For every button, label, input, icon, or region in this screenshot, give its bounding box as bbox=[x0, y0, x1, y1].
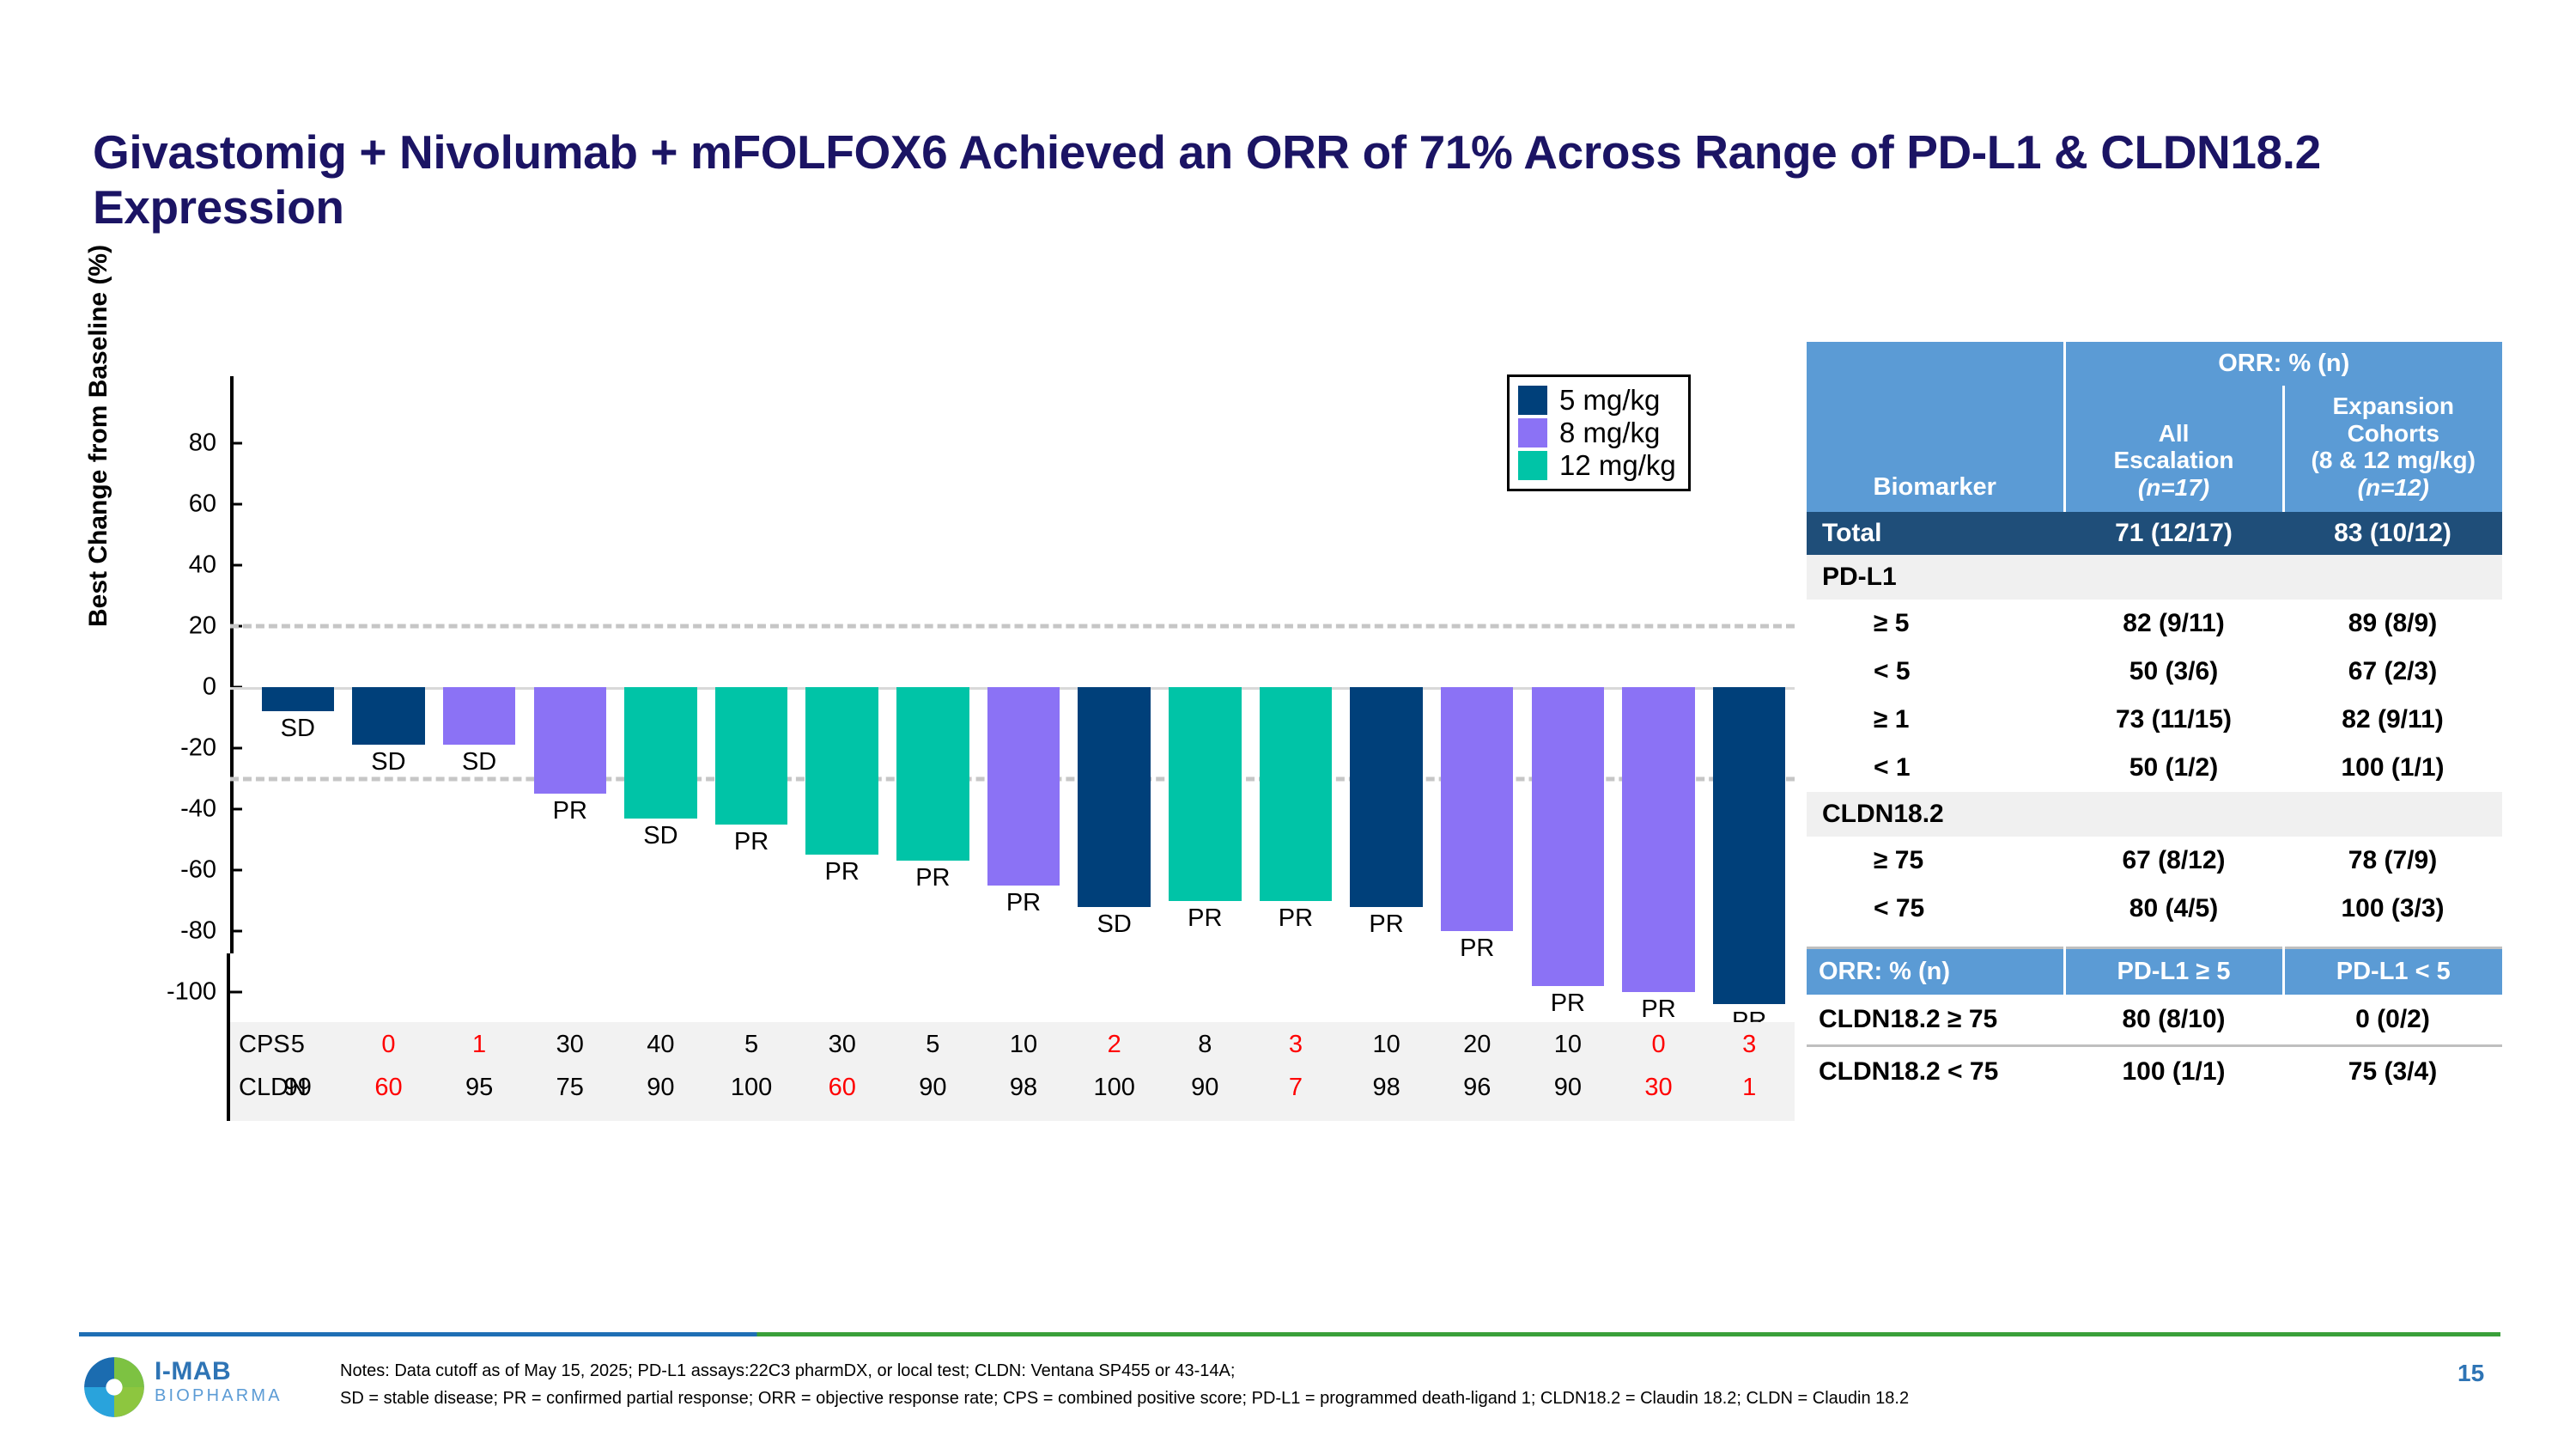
annotation-cell: 8 bbox=[1198, 1031, 1212, 1059]
annotation-cell: 1 bbox=[472, 1031, 486, 1059]
annotation-cell: 2 bbox=[1108, 1031, 1121, 1059]
y-tick-label: -100 bbox=[105, 978, 230, 1007]
annotation-cell: 30 bbox=[829, 1031, 856, 1059]
bar-rect bbox=[715, 687, 788, 825]
total-all-escalation: 71 (12/17) bbox=[2064, 512, 2283, 555]
bar-response-label: PR bbox=[1551, 989, 1585, 1018]
table-row-total: Total 71 (12/17) 83 (10/12) bbox=[1807, 512, 2502, 555]
annotation-cell: 60 bbox=[374, 1074, 402, 1102]
annotation-cell: 3 bbox=[1742, 1031, 1756, 1059]
cell-all-escalation: 73 (11/15) bbox=[2064, 696, 2283, 744]
logo-wordmark: I-MAB BIOPHARMA bbox=[155, 1359, 283, 1407]
waterfall-bar[interactable]: PR bbox=[1350, 344, 1423, 1125]
y-tick-label: -60 bbox=[105, 856, 230, 885]
group-label: CLDN18.2 bbox=[1807, 792, 2502, 837]
annotation-cell: 98 bbox=[1372, 1074, 1400, 1102]
y-tick-label: -20 bbox=[105, 734, 230, 763]
legend-swatch bbox=[1518, 418, 1547, 447]
annotation-cell: 1 bbox=[1742, 1074, 1756, 1102]
page-title: Givastomig + Nivolumab + mFOLFOX6 Achiev… bbox=[93, 125, 2454, 235]
annotation-cell: 10 bbox=[1372, 1031, 1400, 1059]
bar-response-label: PR bbox=[915, 864, 950, 892]
bar-rect bbox=[262, 687, 335, 711]
y-tick-mark bbox=[230, 442, 242, 445]
waterfall-bar[interactable]: SD bbox=[262, 344, 335, 1125]
legend-item[interactable]: 5 mg/kg bbox=[1518, 384, 1676, 417]
legend-item[interactable]: 8 mg/kg bbox=[1518, 417, 1676, 449]
waterfall-bar[interactable]: SD bbox=[352, 344, 425, 1125]
waterfall-bar[interactable]: PR bbox=[534, 344, 607, 1125]
annotation-cell: 10 bbox=[1554, 1031, 1582, 1059]
biomarker-table-body: PD-L1≥ 582 (9/11)89 (8/9)< 550 (3/6)67 (… bbox=[1807, 555, 2502, 933]
bar-rect bbox=[896, 687, 969, 861]
bar-rect bbox=[624, 687, 697, 819]
y-tick-label: 60 bbox=[105, 490, 230, 519]
bar-rect bbox=[1441, 687, 1514, 931]
bar-rect bbox=[1169, 687, 1242, 901]
header-orr-span: ORR: % (n) bbox=[2064, 342, 2502, 386]
cell-pdl1-ge5: 100 (1/1) bbox=[2064, 1045, 2283, 1097]
annotation-cell: 30 bbox=[1644, 1074, 1672, 1102]
footnotes: Notes: Data cutoff as of May 15, 2025; P… bbox=[340, 1357, 2341, 1413]
footer-divider bbox=[79, 1332, 2500, 1336]
waterfall-bar[interactable]: PR bbox=[1169, 344, 1242, 1125]
table-group-row: CLDN18.2 bbox=[1807, 792, 2502, 837]
row-label: CLDN18.2 < 75 bbox=[1807, 1045, 2064, 1097]
cell-expansion: 100 (3/3) bbox=[2283, 885, 2502, 933]
bar-response-label: SD bbox=[462, 748, 496, 776]
legend-swatch bbox=[1518, 386, 1547, 415]
annotation-cell: 5 bbox=[744, 1031, 758, 1059]
logo-name: I-MAB bbox=[155, 1359, 283, 1385]
cross-tab-table: ORR: % (n) PD-L1 ≥ 5 PD-L1 < 5 CLDN18.2 … bbox=[1807, 947, 2502, 1097]
header-expansion-l3: (8 & 12 mg/kg) bbox=[2288, 447, 2500, 474]
y-tick-label: -80 bbox=[105, 917, 230, 946]
annotation-cell: 30 bbox=[556, 1031, 584, 1059]
cell-expansion: 78 (7/9) bbox=[2283, 837, 2502, 885]
bar-response-label: PR bbox=[734, 828, 769, 856]
y-tick-mark bbox=[230, 747, 242, 750]
y-tick-label: -40 bbox=[105, 795, 230, 824]
cell-expansion: 89 (8/9) bbox=[2283, 600, 2502, 648]
row-label: CLDN18.2 ≥ 75 bbox=[1807, 995, 2064, 1046]
y-tick-label: 20 bbox=[105, 612, 230, 641]
table-row[interactable]: ≥ 7567 (8/12)78 (7/9) bbox=[1807, 837, 2502, 885]
cell-all-escalation: 50 (3/6) bbox=[2064, 648, 2283, 696]
bar-rect bbox=[805, 687, 878, 855]
waterfall-bar[interactable]: PR bbox=[1260, 344, 1333, 1125]
annotation-cell: 95 bbox=[465, 1074, 493, 1102]
table-row[interactable]: ≥ 582 (9/11)89 (8/9) bbox=[1807, 600, 2502, 648]
bar-response-label: PR bbox=[1369, 910, 1403, 939]
waterfall-chart: Best Change from Baseline (%) 806040200-… bbox=[86, 344, 1795, 1168]
page-number: 15 bbox=[2458, 1360, 2484, 1387]
bar-response-label: PR bbox=[1006, 889, 1041, 917]
annotation-cell: 98 bbox=[1010, 1074, 1037, 1102]
annotation-cell: 0 bbox=[1651, 1031, 1665, 1059]
header-biomarker: Biomarker bbox=[1807, 342, 2064, 512]
bar-response-label: PR bbox=[1641, 995, 1675, 1024]
cell-all-escalation: 80 (4/5) bbox=[2064, 885, 2283, 933]
annotation-cell: 90 bbox=[919, 1074, 946, 1102]
bar-rect bbox=[1350, 687, 1423, 907]
annotation-cell: 3 bbox=[1289, 1031, 1303, 1059]
biomarker-annotation-band: CPS501304053051028310201003CLDN996095759… bbox=[230, 1022, 1795, 1121]
waterfall-bar[interactable]: PR bbox=[1713, 344, 1786, 1125]
bar-response-label: PR bbox=[1279, 904, 1313, 933]
waterfall-bar[interactable]: PR bbox=[805, 344, 878, 1125]
footnote-line-2: SD = stable disease; PR = confirmed part… bbox=[340, 1385, 2341, 1412]
annotation-cell: 99 bbox=[284, 1074, 312, 1102]
y-tick-mark bbox=[230, 930, 242, 933]
header-all-escalation-l1: All bbox=[2069, 420, 2279, 447]
axis-stub bbox=[227, 953, 230, 1121]
annotation-cell: 5 bbox=[926, 1031, 939, 1059]
total-expansion: 83 (10/12) bbox=[2283, 512, 2502, 555]
cell-pdl1-lt5: 0 (0/2) bbox=[2283, 995, 2502, 1046]
header-all-escalation-l2: Escalation bbox=[2069, 447, 2279, 474]
table-row[interactable]: ≥ 173 (11/15)82 (9/11) bbox=[1807, 696, 2502, 744]
annotation-cell: 0 bbox=[381, 1031, 395, 1059]
waterfall-bar[interactable]: PR bbox=[896, 344, 969, 1125]
header-all-escalation-n: (n=17) bbox=[2069, 474, 2279, 502]
y-tick-label: 40 bbox=[105, 551, 230, 580]
biomarker-orr-table: Biomarker ORR: % (n) All Escalation (n=1… bbox=[1807, 342, 2502, 933]
header-expansion-n: (n=12) bbox=[2288, 474, 2500, 502]
y-tick-mark bbox=[230, 869, 242, 872]
header-expansion-l2: Cohorts bbox=[2288, 420, 2500, 447]
bar-response-label: PR bbox=[1460, 935, 1494, 963]
row-label: ≥ 1 bbox=[1807, 696, 2064, 744]
annotation-cell: 100 bbox=[1093, 1074, 1134, 1102]
y-tick-mark bbox=[230, 503, 242, 506]
total-label: Total bbox=[1807, 512, 2064, 555]
annotation-cell: 7 bbox=[1289, 1074, 1303, 1102]
legend-item[interactable]: 12 mg/kg bbox=[1518, 449, 1676, 482]
table-header-top: Biomarker ORR: % (n) bbox=[1807, 342, 2502, 386]
annotation-cell: 100 bbox=[731, 1074, 772, 1102]
table-row[interactable]: < 7580 (4/5)100 (3/3) bbox=[1807, 885, 2502, 933]
table-row[interactable]: CLDN18.2 < 75100 (1/1)75 (3/4) bbox=[1807, 1045, 2502, 1097]
bar-rect bbox=[1532, 687, 1605, 986]
cross-header-col2: PD-L1 < 5 bbox=[2283, 947, 2502, 995]
table-row[interactable]: < 150 (1/2)100 (1/1) bbox=[1807, 744, 2502, 792]
bar-rect bbox=[1622, 687, 1695, 992]
cell-all-escalation: 67 (8/12) bbox=[2064, 837, 2283, 885]
row-label: ≥ 75 bbox=[1807, 837, 2064, 885]
logo-subtitle: BIOPHARMA bbox=[155, 1385, 283, 1407]
waterfall-bar[interactable]: PR bbox=[987, 344, 1060, 1125]
y-tick-mark bbox=[230, 991, 242, 994]
cell-pdl1-lt5: 75 (3/4) bbox=[2283, 1045, 2502, 1097]
bar-response-label: PR bbox=[1188, 904, 1222, 933]
header-expansion-l1: Expansion bbox=[2288, 393, 2500, 420]
header-all-escalation: All Escalation (n=17) bbox=[2064, 386, 2283, 512]
annotation-row-label: CPS bbox=[239, 1031, 290, 1059]
bar-response-label: SD bbox=[1097, 910, 1131, 939]
waterfall-bar[interactable]: SD bbox=[1078, 344, 1151, 1125]
annotation-cell: 20 bbox=[1463, 1031, 1491, 1059]
annotation-cell: 90 bbox=[1191, 1074, 1218, 1102]
annotation-cell: 60 bbox=[829, 1074, 856, 1102]
y-tick-mark bbox=[230, 564, 242, 567]
cross-header-corner: ORR: % (n) bbox=[1807, 947, 2064, 995]
cross-tab-body: CLDN18.2 ≥ 7580 (8/10)0 (0/2)CLDN18.2 < … bbox=[1807, 995, 2502, 1097]
annotation-cell: 75 bbox=[556, 1074, 584, 1102]
cell-pdl1-ge5: 80 (8/10) bbox=[2064, 995, 2283, 1046]
table-row[interactable]: < 550 (3/6)67 (2/3) bbox=[1807, 648, 2502, 696]
annotation-cell: 90 bbox=[647, 1074, 674, 1102]
bar-rect bbox=[352, 687, 425, 745]
cell-all-escalation: 82 (9/11) bbox=[2064, 600, 2283, 648]
legend-swatch bbox=[1518, 451, 1547, 480]
company-logo: I-MAB BIOPHARMA bbox=[82, 1354, 349, 1422]
annotation-cell: 96 bbox=[1463, 1074, 1491, 1102]
legend-label: 5 mg/kg bbox=[1559, 384, 1660, 417]
bar-rect bbox=[1260, 687, 1333, 901]
cell-all-escalation: 50 (1/2) bbox=[2064, 744, 2283, 792]
header-expansion-cohorts: Expansion Cohorts (8 & 12 mg/kg) (n=12) bbox=[2283, 386, 2502, 512]
row-label: < 5 bbox=[1807, 648, 2064, 696]
y-tick-label: 80 bbox=[105, 429, 230, 458]
table-separator bbox=[1807, 933, 2502, 947]
bar-response-label: PR bbox=[553, 797, 587, 825]
cross-header-col1: PD-L1 ≥ 5 bbox=[2064, 947, 2283, 995]
bar-response-label: SD bbox=[281, 715, 315, 743]
waterfall-bar[interactable]: PR bbox=[1441, 344, 1514, 1125]
bar-response-label: SD bbox=[643, 822, 677, 850]
y-axis-line bbox=[230, 376, 234, 953]
group-label: PD-L1 bbox=[1807, 555, 2502, 600]
cell-expansion: 67 (2/3) bbox=[2283, 648, 2502, 696]
bar-rect bbox=[534, 687, 607, 794]
table-row[interactable]: CLDN18.2 ≥ 7580 (8/10)0 (0/2) bbox=[1807, 995, 2502, 1046]
footnote-line-1: Notes: Data cutoff as of May 15, 2025; P… bbox=[340, 1357, 2341, 1385]
bar-rect bbox=[443, 687, 516, 745]
annotation-cell: 10 bbox=[1010, 1031, 1037, 1059]
row-label: ≥ 5 bbox=[1807, 600, 2064, 648]
cross-tab-header: ORR: % (n) PD-L1 ≥ 5 PD-L1 < 5 bbox=[1807, 947, 2502, 995]
bar-rect bbox=[1713, 687, 1786, 1004]
cell-expansion: 100 (1/1) bbox=[2283, 744, 2502, 792]
results-tables: Biomarker ORR: % (n) All Escalation (n=1… bbox=[1807, 342, 2502, 1097]
waterfall-bar[interactable]: SD bbox=[443, 344, 516, 1125]
annotation-cell: 90 bbox=[1554, 1074, 1582, 1102]
table-group-row: PD-L1 bbox=[1807, 555, 2502, 600]
legend-label: 12 mg/kg bbox=[1559, 449, 1676, 482]
cell-expansion: 82 (9/11) bbox=[2283, 696, 2502, 744]
bar-rect bbox=[987, 687, 1060, 886]
bar-rect bbox=[1078, 687, 1151, 907]
row-label: < 75 bbox=[1807, 885, 2064, 933]
waterfall-bar[interactable]: PR bbox=[715, 344, 788, 1125]
row-label: < 1 bbox=[1807, 744, 2064, 792]
waterfall-bar[interactable]: SD bbox=[624, 344, 697, 1125]
y-tick-label: 0 bbox=[105, 673, 230, 702]
annotation-cell: 40 bbox=[647, 1031, 674, 1059]
chart-legend: 5 mg/kg8 mg/kg12 mg/kg bbox=[1507, 374, 1691, 491]
imab-logo-mark bbox=[82, 1355, 146, 1419]
bar-response-label: SD bbox=[371, 748, 405, 776]
legend-label: 8 mg/kg bbox=[1559, 417, 1660, 449]
annotation-cell: 5 bbox=[291, 1031, 305, 1059]
y-tick-mark bbox=[230, 808, 242, 811]
bar-response-label: PR bbox=[825, 858, 860, 886]
